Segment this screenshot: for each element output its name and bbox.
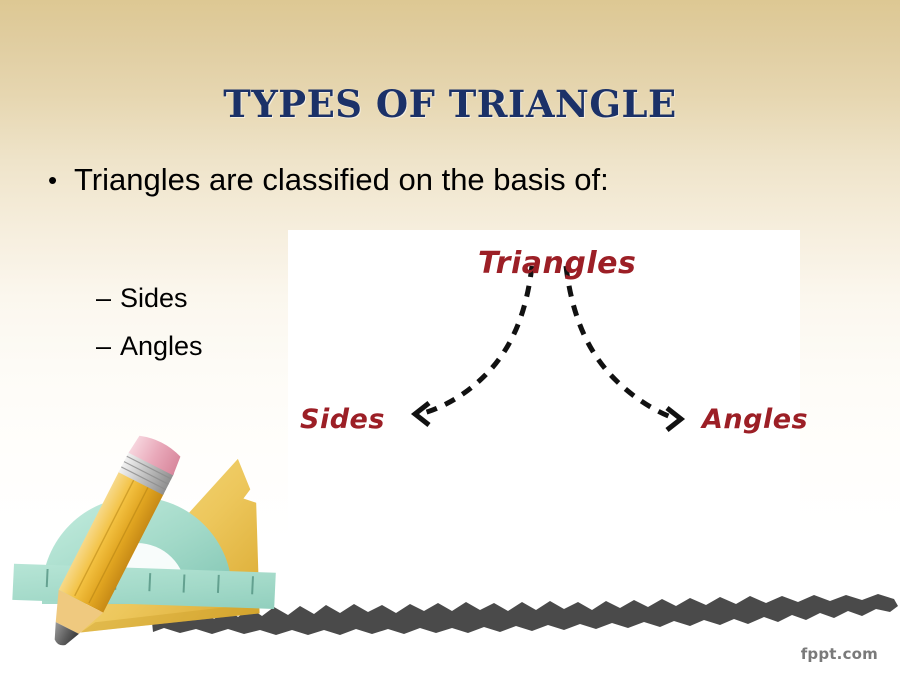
bullet-marker-dot: • [48,161,74,199]
left-branch-dashed-line [420,266,532,414]
bullet-text: Sides [120,281,188,315]
bullet-item-level1: • Triangles are classified on the basis … [48,161,609,199]
bullet-item-angles: – Angles [96,329,203,363]
diagram-left-branch-label: Sides [300,404,385,435]
presentation-slide: TYPES OF TRIANGLE • Triangles are classi… [0,0,900,675]
right-branch-dashed-line [566,266,676,419]
watermark-fppt: fppt.com [801,645,878,663]
geometry-tools-clipart [0,432,300,658]
bullet-marker-dash: – [96,281,120,315]
right-arrowhead-icon [667,408,681,430]
page-title: TYPES OF TRIANGLE [0,82,900,126]
bullet-marker-dash: – [96,329,120,363]
diagram-root-label: Triangles [478,246,636,281]
bullet-item-sides: – Sides [96,281,188,315]
bullet-text: Angles [120,329,203,363]
bullet-text: Triangles are classified on the basis of… [74,161,609,199]
diagram-panel: Triangles Sides Angles [288,230,800,600]
diagram-right-branch-label: Angles [702,404,808,435]
